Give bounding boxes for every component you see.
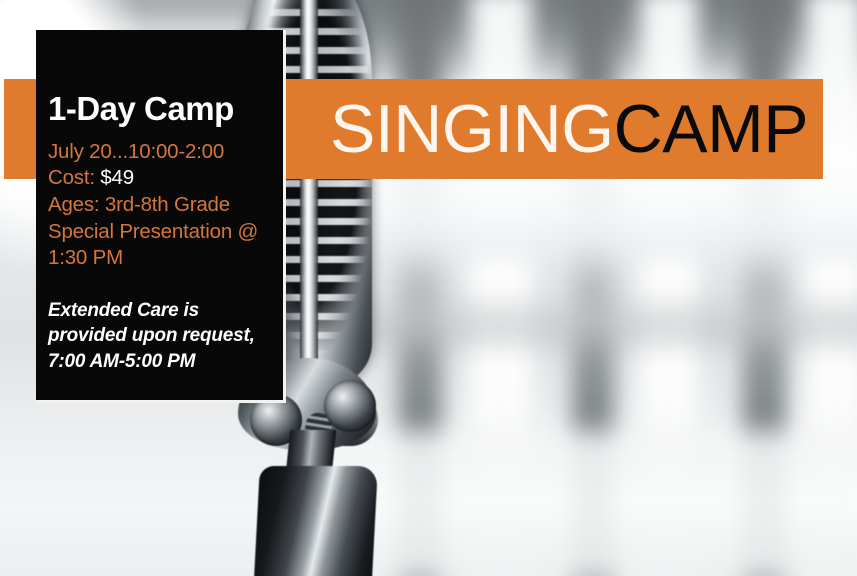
info-panel: 1-Day Camp July 20...10:00-2:00 Cost: $4… — [36, 30, 286, 403]
microphone-center-rib — [300, 0, 318, 370]
headline-word-singing: SINGING — [330, 91, 614, 167]
headline-title: SINGINGCAMP — [330, 79, 808, 179]
panel-presentation-line-2: 1:30 PM — [48, 245, 283, 272]
panel-ages-line: Ages: 3rd-8th Grade — [48, 192, 283, 219]
poster-canvas: SINGINGCAMP 1-Day Camp July 20...10:00-2… — [0, 0, 857, 576]
extended-care-line-1: Extended Care is — [48, 298, 283, 323]
info-panel-content: 1-Day Camp July 20...10:00-2:00 Cost: $4… — [36, 30, 283, 374]
extended-care-line-2: provided upon request, — [48, 323, 283, 348]
extended-care-line-3: 7:00 AM-5:00 PM — [48, 349, 283, 374]
panel-cost-line: Cost: $49 — [48, 165, 283, 192]
panel-date-line: July 20...10:00-2:00 — [48, 139, 283, 166]
headline-word-camp: CAMP — [614, 91, 808, 167]
panel-cost-value: $49 — [100, 166, 134, 189]
panel-presentation-line-1: Special Presentation @ — [48, 219, 283, 246]
microphone-stand — [252, 466, 378, 576]
microphone-knob-right — [324, 380, 376, 432]
panel-headline: 1-Day Camp — [48, 92, 283, 127]
panel-cost-label: Cost: — [48, 166, 95, 189]
extended-care-note: Extended Care is provided upon request, … — [48, 298, 283, 374]
